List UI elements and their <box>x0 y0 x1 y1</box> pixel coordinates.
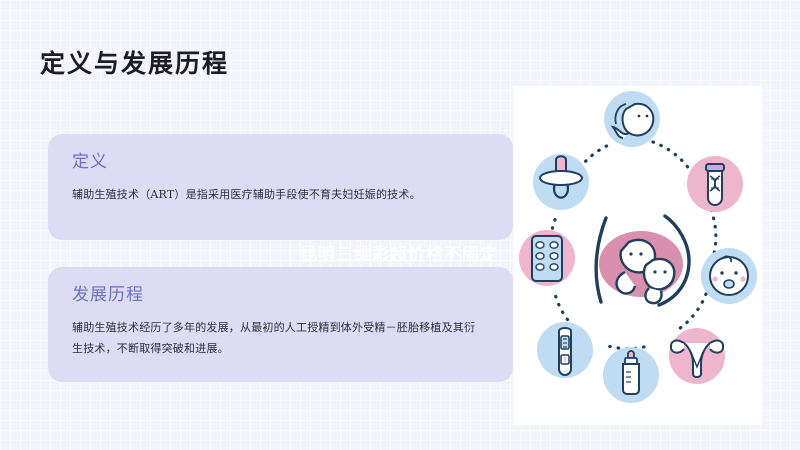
slide-canvas: 定义与发展历程 定义 辅助生殖技术（ART）是指采用医疗辅助手段使不育夫妇妊娠的… <box>0 0 800 450</box>
uterus-icon <box>669 328 725 384</box>
pacifier-icon <box>533 154 589 210</box>
baby-face-icon <box>701 248 757 304</box>
pregnancy-test-icon <box>537 322 593 378</box>
page-title: 定义与发展历程 <box>40 47 229 81</box>
card-definition-heading: 定义 <box>72 150 491 174</box>
card-history-body: 辅助生殖技术经历了多年的发展，从最初的人工授精到体外受精－胚胎移植及其衍生技术，… <box>72 317 482 359</box>
fetus-icon <box>604 91 660 147</box>
watermark-text: 昆明三维彩超价格不固定 <box>300 240 498 265</box>
pregnant-belly-figure <box>596 216 689 305</box>
fertility-cycle-illustration <box>513 86 762 425</box>
baby-bottle-icon <box>603 347 659 403</box>
card-definition: 定义 辅助生殖技术（ART）是指采用医疗辅助手段使不育夫妇妊娠的技术。 <box>48 134 513 240</box>
illustration-panel <box>513 86 762 425</box>
pill-blister-pack-icon <box>519 230 575 286</box>
card-history-heading: 发展历程 <box>72 283 491 307</box>
card-history: 发展历程 辅助生殖技术经历了多年的发展，从最初的人工授精到体外受精－胚胎移植及其… <box>48 267 513 382</box>
fetus-twin-b <box>644 259 674 303</box>
card-definition-body: 辅助生殖技术（ART）是指采用医疗辅助手段使不育夫妇妊娠的技术。 <box>72 184 482 205</box>
dna-test-tube-icon <box>687 156 743 212</box>
